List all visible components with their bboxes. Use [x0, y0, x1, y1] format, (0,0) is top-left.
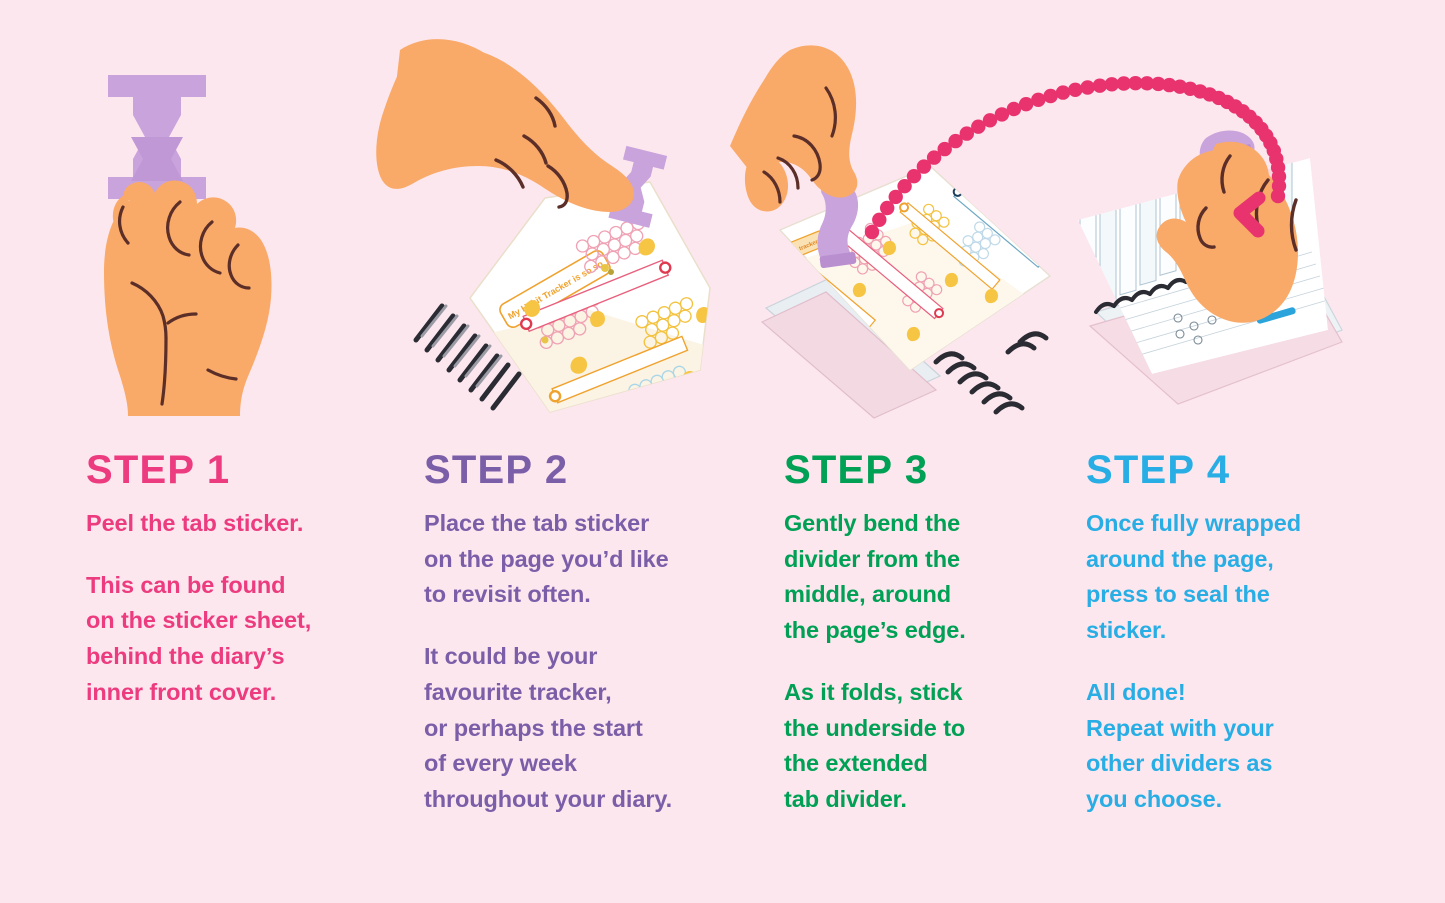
hand-pinching [104, 181, 272, 416]
svg-text:6: 6 [1161, 185, 1169, 190]
tab-sticker-lilac [108, 75, 206, 199]
step-2-paragraph-1: Place the tab sticker on the page you’d … [424, 506, 759, 613]
step-2-text: STEP 2 Place the tab sticker on the page… [424, 450, 759, 818]
hand-pressing [376, 39, 634, 212]
svg-text:10: 10 [1081, 197, 1089, 206]
instruction-infographic: STEP 1 Peel the tab sticker. This can be… [0, 0, 1445, 903]
step-1-text: STEP 1 Peel the tab sticker. This can be… [86, 450, 406, 711]
step-2-illustration: My Habit Tracker is so so [400, 40, 755, 440]
step-3-text: STEP 3 Gently bend the divider from the … [784, 450, 1074, 818]
step-2-heading: STEP 2 [424, 450, 759, 490]
step-3-heading: STEP 3 [784, 450, 1074, 490]
step-1-heading: STEP 1 [86, 450, 406, 490]
svg-text:7: 7 [1141, 189, 1149, 194]
spiral-binding [936, 334, 1046, 412]
step-2-paragraph-2: It could be your favourite tracker, or p… [424, 639, 759, 818]
svg-text:9: 9 [1101, 197, 1109, 202]
step-column-3: tracker [760, 0, 1060, 903]
step-3-illustration: tracker [760, 40, 1060, 440]
step-4-illustration: 10 9 8 7 6 5 4 3 2 1 [1060, 40, 1400, 440]
step-3-paragraph-2: As it folds, stick the underside to the … [784, 675, 1074, 818]
step-column-2: My Habit Tracker is so so [400, 0, 755, 903]
step-1-illustration [60, 40, 410, 440]
step-4-paragraph-1: Once fully wrapped around the page, pres… [1086, 506, 1406, 649]
step-column-4: 10 9 8 7 6 5 4 3 2 1 [1060, 0, 1400, 903]
step-3-paragraph-1: Gently bend the divider from the middle,… [784, 506, 1074, 649]
step-1-paragraph-1: Peel the tab sticker. [86, 506, 406, 542]
tracker-page: My Habit Tracker is so so [460, 182, 743, 440]
step-1-paragraph-2: This can be found on the sticker sheet, … [86, 568, 406, 711]
step-column-1: STEP 1 Peel the tab sticker. This can be… [60, 0, 410, 903]
step-4-paragraph-2: All done! Repeat with your other divider… [1086, 675, 1406, 818]
svg-text:8: 8 [1121, 193, 1129, 198]
step-4-text: STEP 4 Once fully wrapped around the pag… [1086, 450, 1406, 818]
step-4-heading: STEP 4 [1086, 450, 1406, 490]
